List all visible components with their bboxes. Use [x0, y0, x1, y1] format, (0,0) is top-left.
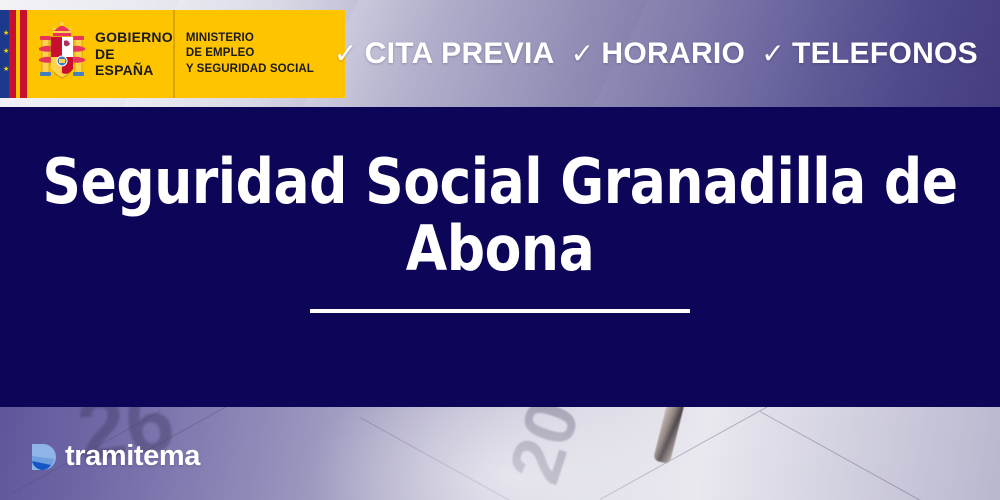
claim-horario: ✓ HORARIO: [571, 37, 746, 71]
hero-banner: Seguridad Social Granadilla de Abona: [0, 107, 1000, 407]
ministry-line-3: Y SEGURIDAD SOCIAL: [186, 62, 314, 78]
gobierno-line-2: DE ESPAÑA: [95, 46, 173, 79]
eu-star-icon: ★: [3, 66, 9, 73]
ministry-line-2: DE EMPLEO: [186, 46, 314, 62]
title-underline-rule: [310, 309, 690, 313]
check-icon: ✓: [761, 37, 785, 70]
spain-flag-red-icon: [9, 10, 16, 98]
spain-flag-red-icon: [20, 10, 27, 98]
claim-label: TELEFONOS: [792, 37, 978, 71]
eu-star-icon: ★: [3, 30, 9, 37]
promo-banner-page: ★ ★ ★: [0, 0, 1000, 500]
gobierno-line-1: GOBIERNO: [95, 29, 173, 46]
ministry-line-1: MINISTERIO: [186, 31, 314, 47]
gobierno-text: GOBIERNO DE ESPAÑA: [95, 29, 173, 79]
gobierno-block: GOBIERNO DE ESPAÑA: [27, 10, 173, 98]
pen-nib-icon: [653, 407, 684, 464]
eu-flag-band-icon: ★ ★ ★: [0, 10, 9, 98]
planner-rule-line: [360, 417, 579, 500]
calendar-day-number-right: 20: [494, 407, 597, 493]
photo-highlight: [300, 407, 720, 500]
top-bar: ★ ★ ★: [0, 0, 1000, 107]
planner-rule-line: [760, 411, 935, 500]
claim-label: CITA PREVIA: [365, 37, 555, 71]
claim-label: HORARIO: [601, 37, 745, 71]
eu-star-icon: ★: [3, 48, 9, 55]
spain-coat-of-arms-icon: [37, 21, 87, 87]
brand-logo[interactable]: tramitema: [30, 440, 200, 473]
page-title: Seguridad Social Granadilla de Abona: [39, 149, 961, 283]
check-icon: ✓: [571, 37, 595, 70]
claim-cita-previa: ✓ CITA PREVIA: [334, 37, 555, 71]
tramitema-leaf-logo-icon: [30, 442, 56, 472]
government-logo: ★ ★ ★: [0, 10, 345, 98]
claims-list: ✓ CITA PREVIA ✓ HORARIO ✓ TELEFONOS: [334, 0, 978, 107]
check-icon: ✓: [334, 37, 358, 70]
ministry-text: MINISTERIO DE EMPLEO Y SEGURIDAD SOCIAL: [186, 31, 314, 78]
brand-name: tramitema: [65, 440, 200, 473]
planner-rule-line: [600, 407, 863, 500]
spain-eu-flag-stripe-icon: ★ ★ ★: [0, 10, 27, 98]
claim-telefonos: ✓ TELEFONOS: [761, 37, 978, 71]
ministry-block: MINISTERIO DE EMPLEO Y SEGURIDAD SOCIAL: [178, 10, 345, 98]
